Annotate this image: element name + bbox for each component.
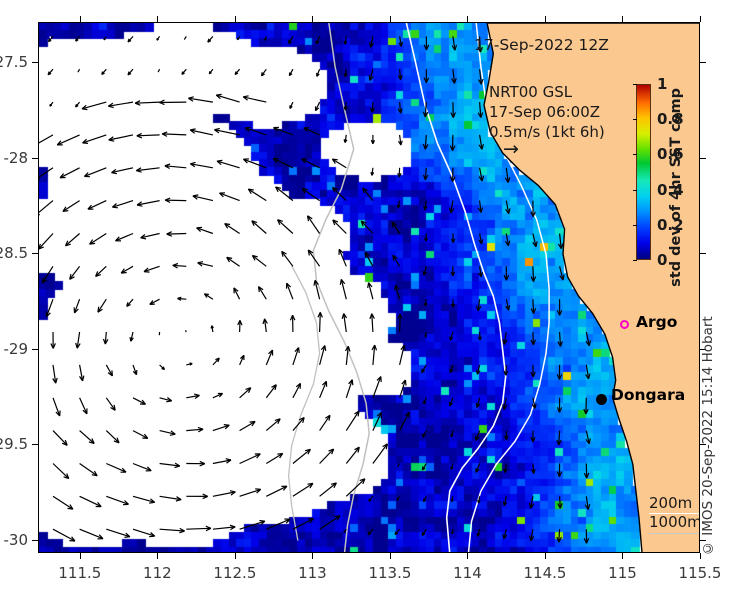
x-tick-label: 113.5 (368, 564, 411, 582)
x-tick-label: 112 (143, 564, 172, 582)
x-tick-label: 114 (453, 564, 482, 582)
x-tick-mark-top (622, 16, 623, 22)
x-tick-mark (467, 553, 468, 559)
colorbar-tick-mark (633, 225, 637, 226)
depth-label-1000m: 1000m (649, 514, 700, 531)
x-tick-label: 111.5 (58, 564, 101, 582)
y-tick-mark-right (700, 158, 706, 159)
colorbar-tick-mark (633, 119, 637, 120)
colorbar: 00.20.40.60.81 (636, 84, 651, 260)
colorbar-tick-mark (633, 154, 637, 155)
x-tick-label: 115.5 (679, 564, 722, 582)
map-plot-area: 17-Sep-2022 12Z NRT00 GSL 17-Sep 06:00Z … (38, 22, 700, 553)
y-tick-mark-right (700, 62, 706, 63)
dongara-label: Dongara (611, 386, 685, 404)
x-tick-mark (622, 553, 623, 559)
colorbar-tick-mark (633, 84, 637, 85)
x-tick-mark (312, 553, 313, 559)
colorbar-tick-mark (633, 260, 637, 261)
colorbar-tick-mark (633, 190, 637, 191)
y-tick-label: -28.5 (0, 244, 28, 262)
y-tick-mark (32, 62, 38, 63)
colorbar-tick-label: 1 (657, 75, 667, 93)
vector-legend: NRT00 GSL 17-Sep 06:00Z 0.5m/s (1kt 6h) … (489, 83, 605, 159)
y-tick-mark (32, 540, 38, 541)
y-tick-label: -27.5 (0, 53, 28, 71)
y-tick-mark-right (700, 253, 706, 254)
x-tick-mark-top (545, 16, 546, 22)
y-tick-label: -30 (4, 531, 29, 549)
x-tick-mark-top (235, 16, 236, 22)
x-tick-label: 112.5 (213, 564, 256, 582)
x-tick-mark (157, 553, 158, 559)
colorbar-gradient (636, 84, 651, 260)
vector-legend-arrow-icon: → (503, 140, 605, 159)
y-tick-mark (32, 349, 38, 350)
argo-label: Argo (636, 313, 677, 331)
depth-scale-legend: 200m 1000m (649, 495, 700, 534)
x-tick-mark-top (80, 16, 81, 22)
argo-marker-icon (620, 320, 629, 329)
x-tick-mark (235, 553, 236, 559)
x-tick-label: 113 (298, 564, 327, 582)
colorbar-tick-label: 0 (657, 251, 667, 269)
y-tick-mark (32, 253, 38, 254)
y-tick-label: -29.5 (0, 435, 28, 453)
x-tick-mark (545, 553, 546, 559)
vector-legend-line2: 17-Sep 06:00Z (489, 103, 605, 123)
x-tick-mark-top (157, 16, 158, 22)
x-tick-label: 115 (608, 564, 637, 582)
dongara-marker-icon (596, 394, 607, 405)
y-tick-mark (32, 158, 38, 159)
timestamp-label: 17-Sep-2022 12Z (474, 35, 609, 55)
isobath-1000m-swatch (649, 533, 700, 534)
x-tick-mark-top (700, 16, 701, 22)
x-tick-mark-top (467, 16, 468, 22)
x-tick-label: 114.5 (523, 564, 566, 582)
x-tick-mark (390, 553, 391, 559)
colorbar-title: std dev of 4hr SST comp (668, 88, 684, 287)
x-tick-mark-top (390, 16, 391, 22)
y-tick-mark (32, 444, 38, 445)
y-tick-label: -29 (4, 340, 29, 358)
vector-legend-line1: NRT00 GSL (489, 83, 605, 103)
y-tick-label: -28 (4, 149, 29, 167)
x-tick-mark (80, 553, 81, 559)
credit-text: © IMOS 20-Sep-2022 15:14 Hobart (700, 316, 716, 556)
depth-label-200m: 200m (649, 495, 700, 512)
x-tick-mark-top (312, 16, 313, 22)
